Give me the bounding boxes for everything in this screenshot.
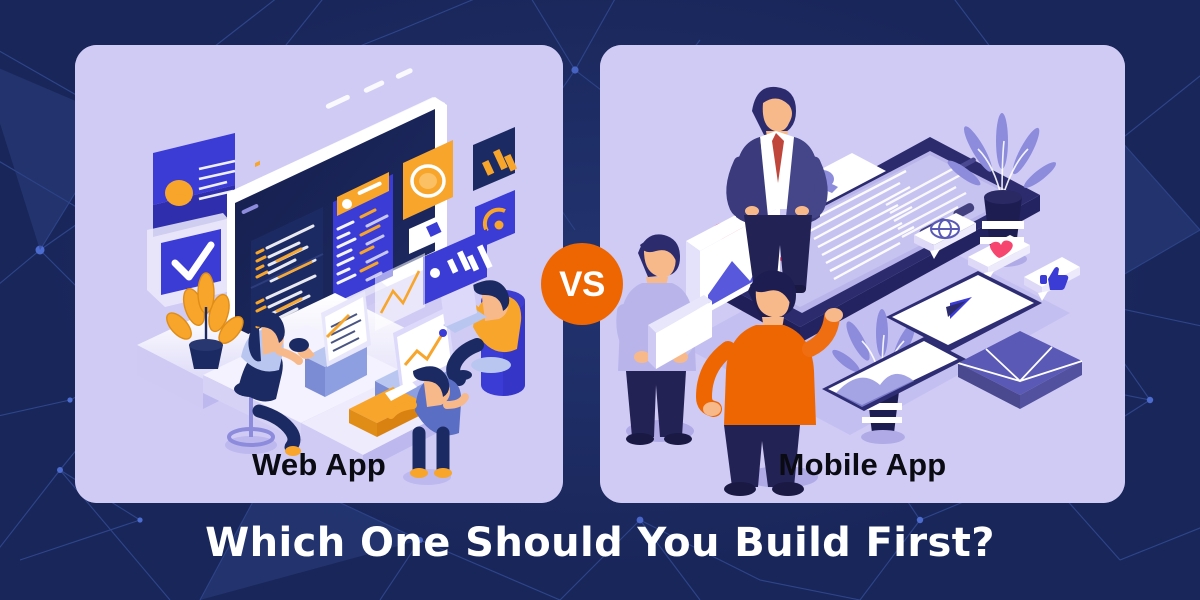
card-label-mobile-app: Mobile App [600, 447, 1125, 483]
card-mobile-app[interactable]: Mobile App [600, 45, 1125, 503]
infographic-canvas: Web App [0, 0, 1200, 600]
mobile-app-illustration [600, 45, 1125, 503]
page-headline: Which One Should You Build First? [0, 520, 1200, 566]
card-web-app[interactable]: Web App [75, 45, 563, 503]
vs-badge-text: VS [559, 267, 605, 302]
vs-badge: VS [541, 243, 623, 325]
web-app-illustration [75, 45, 563, 503]
card-label-web-app: Web App [75, 447, 563, 483]
